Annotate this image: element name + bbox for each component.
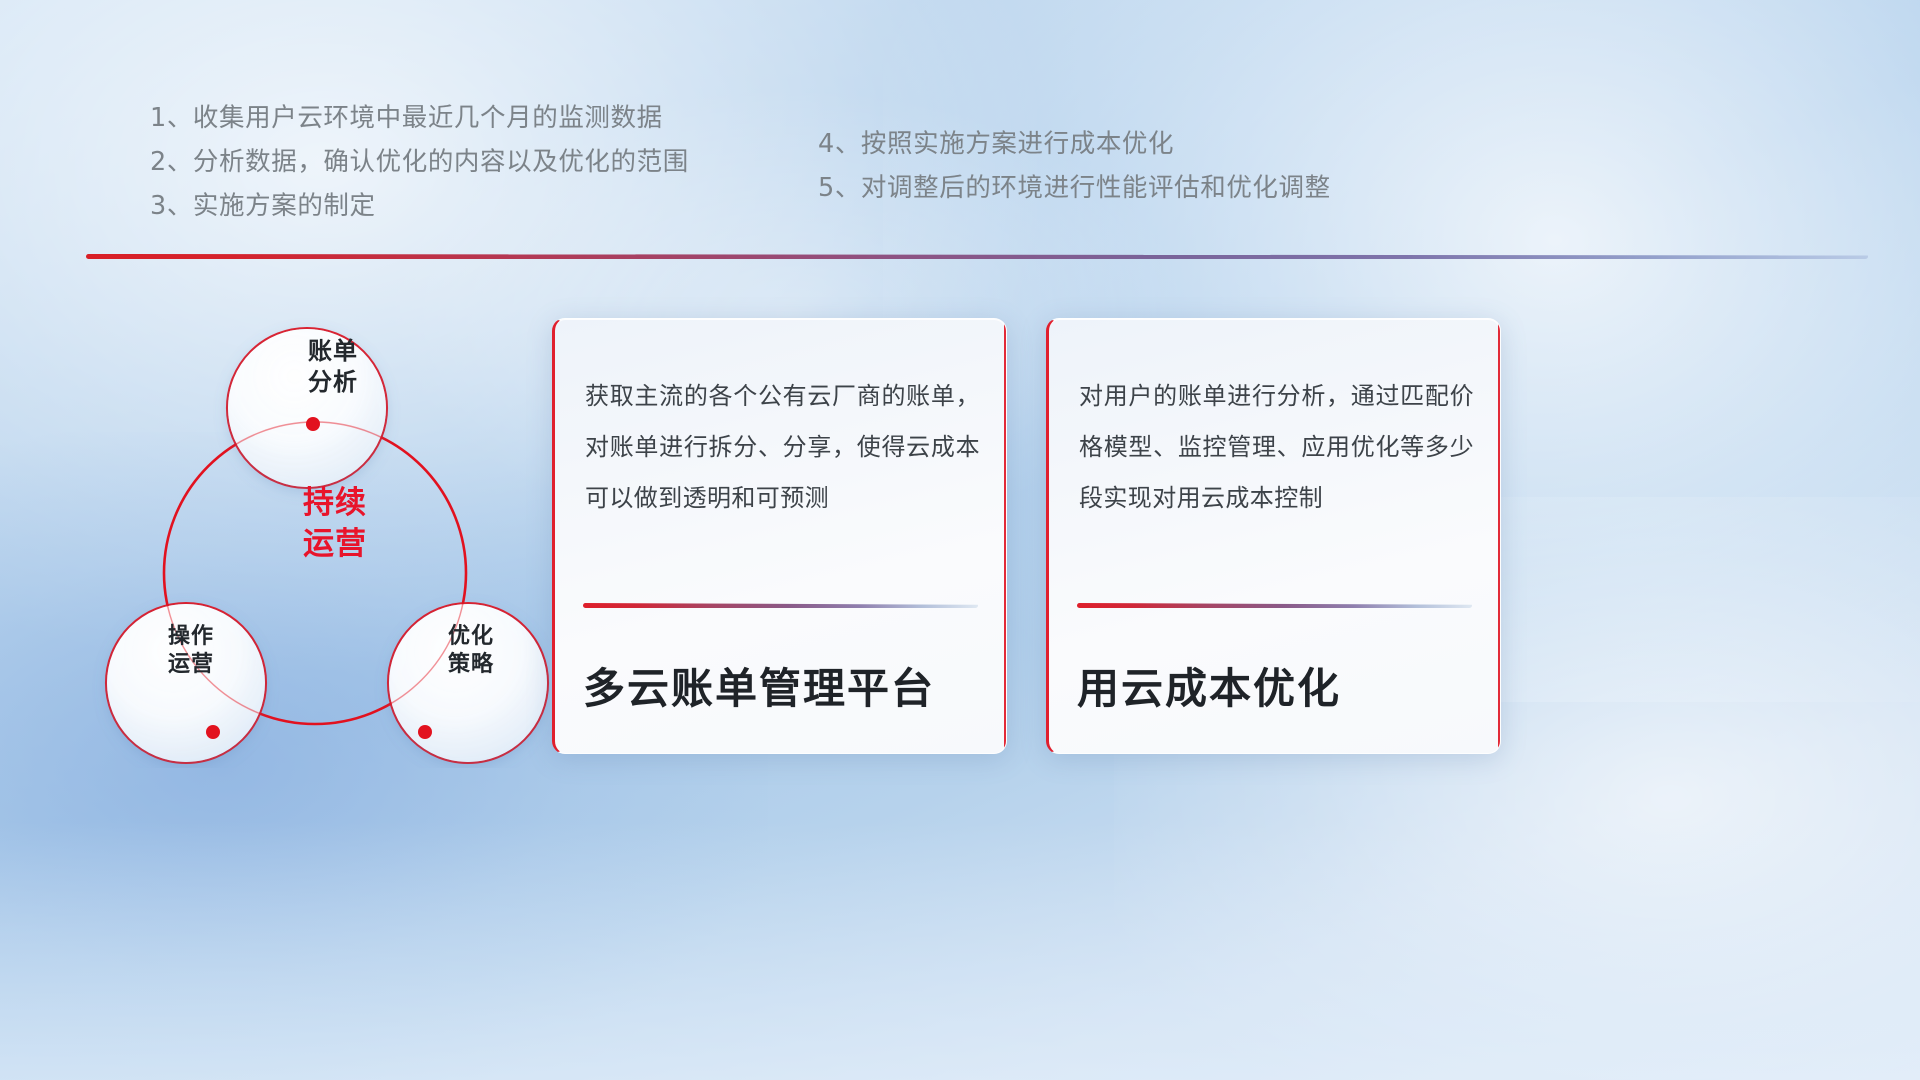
info-card-body: 对用户的账单进行分析，通过匹配价格模型、监控管理、应用优化等多少段实现对用云成本…	[1079, 371, 1474, 524]
venn-label-right: 优化 策略	[408, 623, 534, 679]
venn-label-left-line1: 操作	[128, 623, 254, 651]
info-card-title: 用云成本优化	[1077, 655, 1480, 716]
venn-label-right-line1: 优化	[408, 623, 534, 651]
venn-label-center: 持续 运营	[250, 483, 420, 565]
venn-label-left: 操作 运营	[128, 623, 254, 679]
step-item-1: 1、收集用户云环境中最近几个月的监测数据	[150, 96, 689, 140]
venn-label-right-line2: 策略	[408, 651, 534, 679]
info-card-divider	[583, 603, 978, 608]
venn-label-top: 账单 分析	[265, 336, 401, 397]
step-item-2: 2、分析数据，确认优化的内容以及优化的范围	[150, 140, 689, 184]
step-item-4: 4、按照实施方案进行成本优化	[818, 122, 1331, 166]
info-card-cost-optimization[interactable]: 对用户的账单进行分析，通过匹配价格模型、监控管理、应用优化等多少段实现对用云成本…	[1046, 318, 1501, 754]
venn-dot-left	[206, 725, 220, 739]
step-item-3: 3、实施方案的制定	[150, 184, 689, 228]
background-fade-bottom	[0, 821, 1920, 1080]
venn-label-top-line2: 分析	[265, 367, 401, 398]
step-item-5: 5、对调整后的环境进行性能评估和优化调整	[818, 166, 1331, 210]
steps-left-column: 1、收集用户云环境中最近几个月的监测数据 2、分析数据，确认优化的内容以及优化的…	[150, 96, 689, 228]
info-card-multicloud-billing[interactable]: 获取主流的各个公有云厂商的账单，对账单进行拆分、分享，使得云成本可以做到透明和可…	[552, 318, 1007, 754]
venn-label-center-line2: 运营	[250, 524, 420, 565]
venn-diagram: 账单 分析 操作 运营 优化 策略 持续 运营	[80, 288, 550, 768]
venn-label-left-line2: 运营	[128, 651, 254, 679]
steps-right-column: 4、按照实施方案进行成本优化 5、对调整后的环境进行性能评估和优化调整	[818, 122, 1331, 210]
venn-label-top-line1: 账单	[265, 336, 401, 367]
venn-label-center-line1: 持续	[250, 483, 420, 524]
info-card-title: 多云账单管理平台	[583, 655, 986, 716]
info-card-divider	[1077, 603, 1472, 608]
info-card-body: 获取主流的各个公有云厂商的账单，对账单进行拆分、分享，使得云成本可以做到透明和可…	[585, 371, 980, 524]
venn-dot-right	[418, 725, 432, 739]
venn-dot-top	[306, 417, 320, 431]
